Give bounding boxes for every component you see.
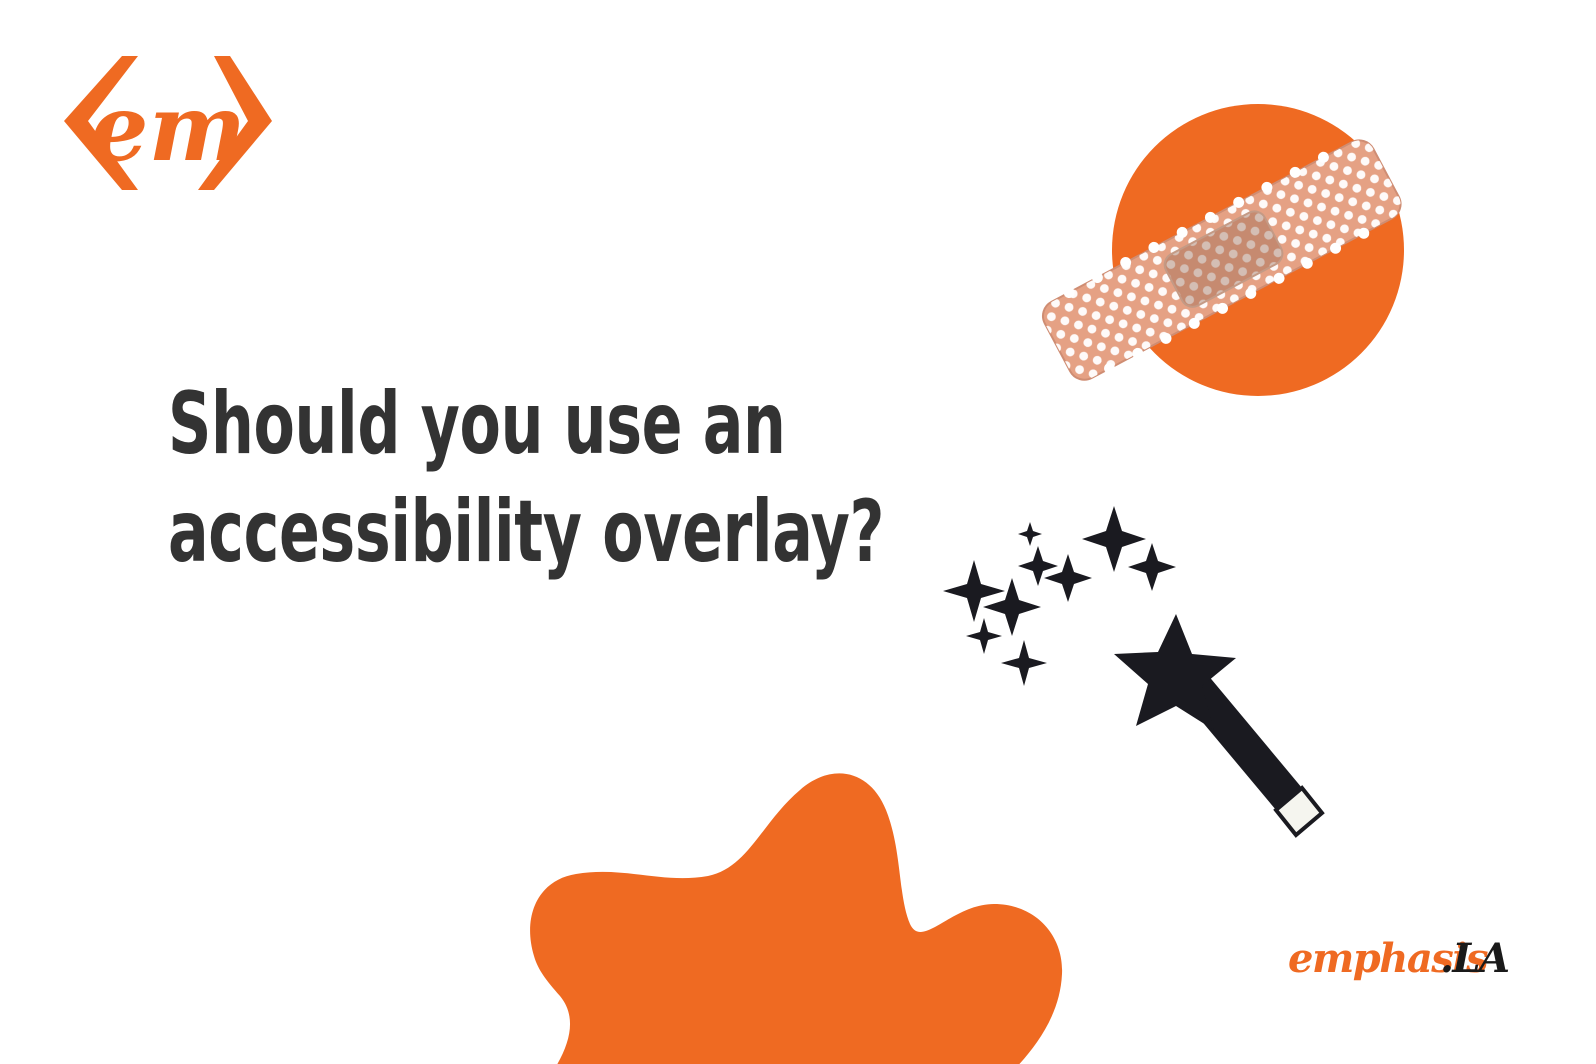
em-angle-bracket-logo-icon: em xyxy=(58,48,278,198)
emphasis-la-wordmark-svg: emphasis .LA xyxy=(1288,928,1518,992)
sparkle-icon xyxy=(1018,522,1042,546)
adhesive-bandage-svg xyxy=(1020,86,1420,436)
sparkle-icon xyxy=(983,578,1041,636)
orange-blob-path xyxy=(530,773,1062,1064)
emphasis-la-wordmark[interactable]: emphasis .LA xyxy=(1288,928,1518,992)
sparkle-icon xyxy=(1082,506,1146,572)
page-title-line-2: accessibility overlay? xyxy=(168,478,714,586)
page-title-line-1: Should you use an xyxy=(168,370,714,478)
adhesive-bandage-icon xyxy=(1020,86,1420,436)
sparkle-icon xyxy=(943,560,1005,622)
em-logo-text: em xyxy=(90,74,246,182)
wordmark-la: .LA xyxy=(1440,935,1509,982)
sparkle-icon xyxy=(1044,554,1092,602)
sparkle-icon xyxy=(1128,543,1176,591)
bandage-body-group xyxy=(1035,130,1409,390)
orange-blob-svg xyxy=(512,756,1072,1064)
sparkle-icon xyxy=(1001,640,1047,686)
page-title: Should you use an accessibility overlay? xyxy=(168,370,714,587)
slide-canvas: em Should you use an accessibility overl… xyxy=(0,0,1596,1064)
sparkle-icon xyxy=(966,618,1002,654)
em-logo[interactable]: em xyxy=(58,48,278,198)
orange-blob-shape xyxy=(512,756,1072,1064)
